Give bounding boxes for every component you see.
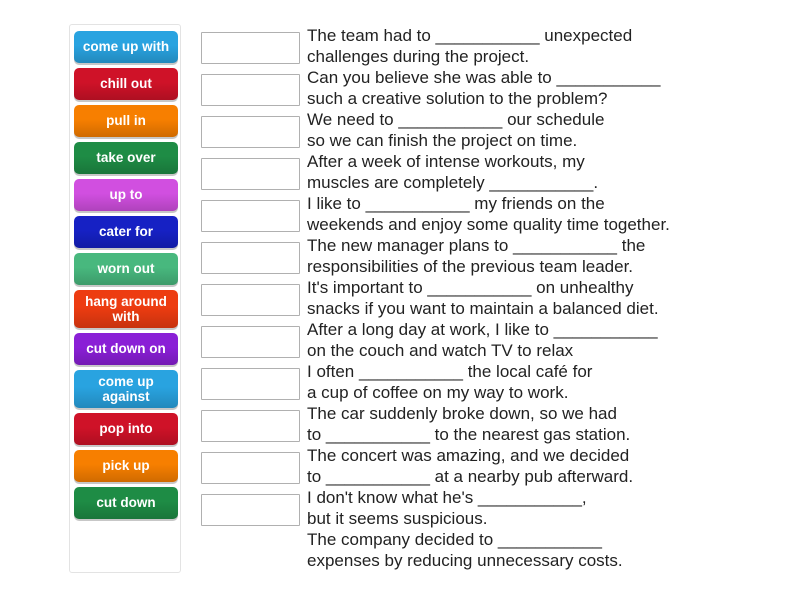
word-tile[interactable]: up to	[74, 179, 178, 211]
answer-dropbox[interactable]	[201, 494, 300, 526]
sentence-prompt: The new manager plans to ___________ the…	[307, 235, 777, 277]
answer-dropbox[interactable]	[201, 74, 300, 106]
answer-dropbox[interactable]	[201, 200, 300, 232]
answer-dropbox[interactable]	[201, 410, 300, 442]
sentence-prompt: I like to ___________ my friends on the …	[307, 193, 777, 235]
word-tile[interactable]: take over	[74, 142, 178, 174]
word-tile[interactable]: pop into	[74, 413, 178, 445]
answer-dropbox[interactable]	[201, 158, 300, 190]
sentence-prompt: After a week of intense workouts, my mus…	[307, 151, 777, 193]
sentence-prompt: Can you believe she was able to ________…	[307, 67, 777, 109]
sentence-prompt: After a long day at work, I like to ____…	[307, 319, 777, 361]
sentence-prompt: The team had to ___________ unexpected c…	[307, 25, 777, 67]
sentence-prompt: I don't know what he's ___________, but …	[307, 487, 777, 529]
sentence-prompt: It's important to ___________ on unhealt…	[307, 277, 777, 319]
word-tile[interactable]: worn out	[74, 253, 178, 285]
word-tile[interactable]: pull in	[74, 105, 178, 137]
sentence-prompt: We need to ___________ our schedule so w…	[307, 109, 777, 151]
answer-dropbox[interactable]	[201, 452, 300, 484]
word-tile[interactable]: hang around with	[74, 290, 178, 328]
answer-dropbox[interactable]	[201, 326, 300, 358]
word-tile[interactable]: come up against	[74, 370, 178, 408]
answer-dropbox[interactable]	[201, 368, 300, 400]
word-tile[interactable]: cut down on	[74, 333, 178, 365]
sentence-prompt: The car suddenly broke down, so we had t…	[307, 403, 777, 445]
answer-dropbox[interactable]	[201, 284, 300, 316]
sentence-prompt: The company decided to ___________ expen…	[307, 529, 777, 571]
answer-dropbox[interactable]	[201, 32, 300, 64]
answer-dropbox[interactable]	[201, 242, 300, 274]
word-tile[interactable]: cut down	[74, 487, 178, 519]
word-tile[interactable]: cater for	[74, 216, 178, 248]
word-tile[interactable]: pick up	[74, 450, 178, 482]
answer-dropbox[interactable]	[201, 116, 300, 148]
sentence-prompt: I often ___________ the local café for a…	[307, 361, 777, 403]
word-tile[interactable]: come up with	[74, 31, 178, 63]
word-tile-tray: come up withchill outpull intake overup …	[69, 24, 181, 573]
sentence-column: The team had to ___________ unexpected c…	[307, 25, 777, 571]
sentence-prompt: The concert was amazing, and we decided …	[307, 445, 777, 487]
dropbox-column	[201, 32, 300, 536]
word-tile[interactable]: chill out	[74, 68, 178, 100]
